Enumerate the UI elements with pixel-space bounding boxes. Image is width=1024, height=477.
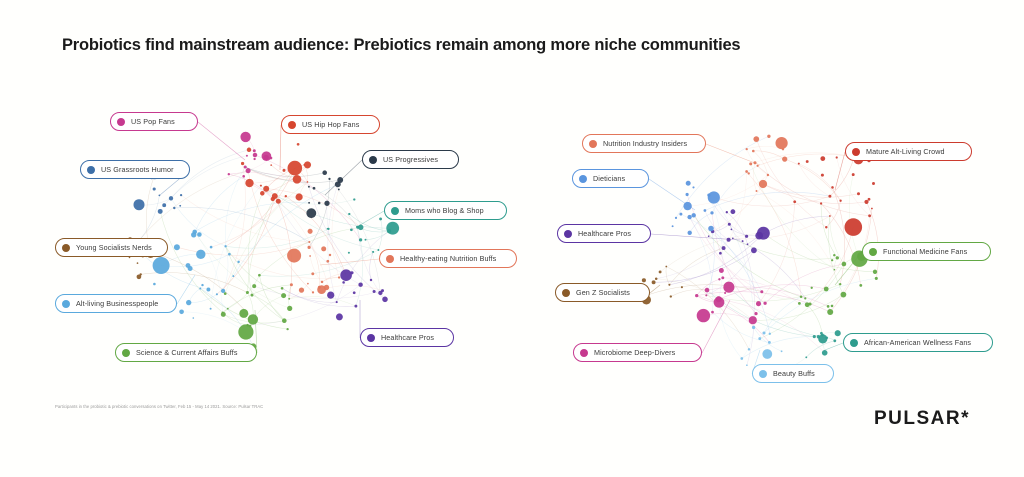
community-label-science-current-affairs-buffs[interactable]: Science & Current Affairs Buffs: [115, 343, 257, 362]
community-color-swatch-icon: [850, 339, 858, 347]
community-color-swatch-icon: [62, 244, 70, 252]
community-color-swatch-icon: [564, 230, 572, 238]
community-label-dieticians[interactable]: Dieticians: [572, 169, 649, 188]
community-color-swatch-icon: [852, 148, 860, 156]
community-color-swatch-icon: [369, 156, 377, 164]
community-label-text: Healthcare Pros: [381, 334, 434, 341]
community-label-text: Nutrition Industry Insiders: [603, 140, 687, 147]
community-label-text: Beauty Buffs: [773, 370, 815, 377]
community-label-gen-z-socialists[interactable]: Gen Z Socialists: [555, 283, 650, 302]
community-label-beauty-buffs[interactable]: Beauty Buffs: [752, 364, 834, 383]
community-label-african-american-wellness-fans[interactable]: African-American Wellness Fans: [843, 333, 993, 352]
community-label-text: Healthcare Pros: [578, 230, 631, 237]
community-label-text: Young Socialists Nerds: [76, 244, 152, 251]
community-label-text: US Hip Hop Fans: [302, 121, 359, 128]
community-label-healthy-eating-nutrition-buffs[interactable]: Healthy-eating Nutrition Buffs: [379, 249, 517, 268]
community-label-text: Healthy-eating Nutrition Buffs: [400, 255, 496, 262]
community-color-swatch-icon: [122, 349, 130, 357]
community-label-text: Microbiome Deep-Divers: [594, 349, 675, 356]
community-color-swatch-icon: [759, 370, 767, 378]
community-label-us-grassroots-humor[interactable]: US Grassroots Humor: [80, 160, 190, 179]
community-label-text: Gen Z Socialists: [576, 289, 630, 296]
community-label-text: Mature Alt-Living Crowd: [866, 148, 945, 155]
community-label-text: Functional Medicine Fans: [883, 248, 967, 255]
community-color-swatch-icon: [869, 248, 877, 256]
community-label-us-hip-hop-fans[interactable]: US Hip Hop Fans: [281, 115, 380, 134]
community-label-us-pop-fans[interactable]: US Pop Fans: [110, 112, 198, 131]
community-label-functional-medicine-fans[interactable]: Functional Medicine Fans: [862, 242, 991, 261]
community-color-swatch-icon: [386, 255, 394, 263]
community-color-swatch-icon: [117, 118, 125, 126]
community-label-healthcare-pros[interactable]: Healthcare Pros: [557, 224, 651, 243]
community-label-text: Alt-living Businesspeople: [76, 300, 158, 307]
community-label-text: US Pop Fans: [131, 118, 175, 125]
community-color-swatch-icon: [580, 349, 588, 357]
source-footnote: Participants in the probiotic & prebioti…: [55, 404, 263, 409]
community-label-text: African-American Wellness Fans: [864, 339, 971, 346]
community-color-swatch-icon: [367, 334, 375, 342]
community-label-healthcare-pros[interactable]: Healthcare Pros: [360, 328, 454, 347]
page-title: Probiotics find mainstream audience: Pre…: [62, 36, 740, 55]
slide-canvas: Probiotics find mainstream audience: Pre…: [0, 0, 1024, 477]
community-label-text: Science & Current Affairs Buffs: [136, 349, 238, 356]
community-color-swatch-icon: [87, 166, 95, 174]
community-color-swatch-icon: [562, 289, 570, 297]
community-label-mature-alt-living-crowd[interactable]: Mature Alt-Living Crowd: [845, 142, 972, 161]
community-label-alt-living-businesspeople[interactable]: Alt-living Businesspeople: [55, 294, 177, 313]
community-label-text: US Grassroots Humor: [101, 166, 174, 173]
community-label-microbiome-deep-divers[interactable]: Microbiome Deep-Divers: [573, 343, 702, 362]
community-label-us-progressives[interactable]: US Progressives: [362, 150, 459, 169]
community-color-swatch-icon: [589, 140, 597, 148]
community-color-swatch-icon: [288, 121, 296, 129]
community-label-text: US Progressives: [383, 156, 438, 163]
community-label-text: Dieticians: [593, 175, 625, 182]
community-color-swatch-icon: [579, 175, 587, 183]
community-label-young-socialists-nerds[interactable]: Young Socialists Nerds: [55, 238, 168, 257]
community-label-text: Moms who Blog & Shop: [405, 207, 484, 214]
community-color-swatch-icon: [62, 300, 70, 308]
community-color-swatch-icon: [391, 207, 399, 215]
pulsar-logo: PULSAR*: [874, 408, 970, 430]
community-label-nutrition-industry-insiders[interactable]: Nutrition Industry Insiders: [582, 134, 706, 153]
community-label-moms-who-blog-shop[interactable]: Moms who Blog & Shop: [384, 201, 507, 220]
